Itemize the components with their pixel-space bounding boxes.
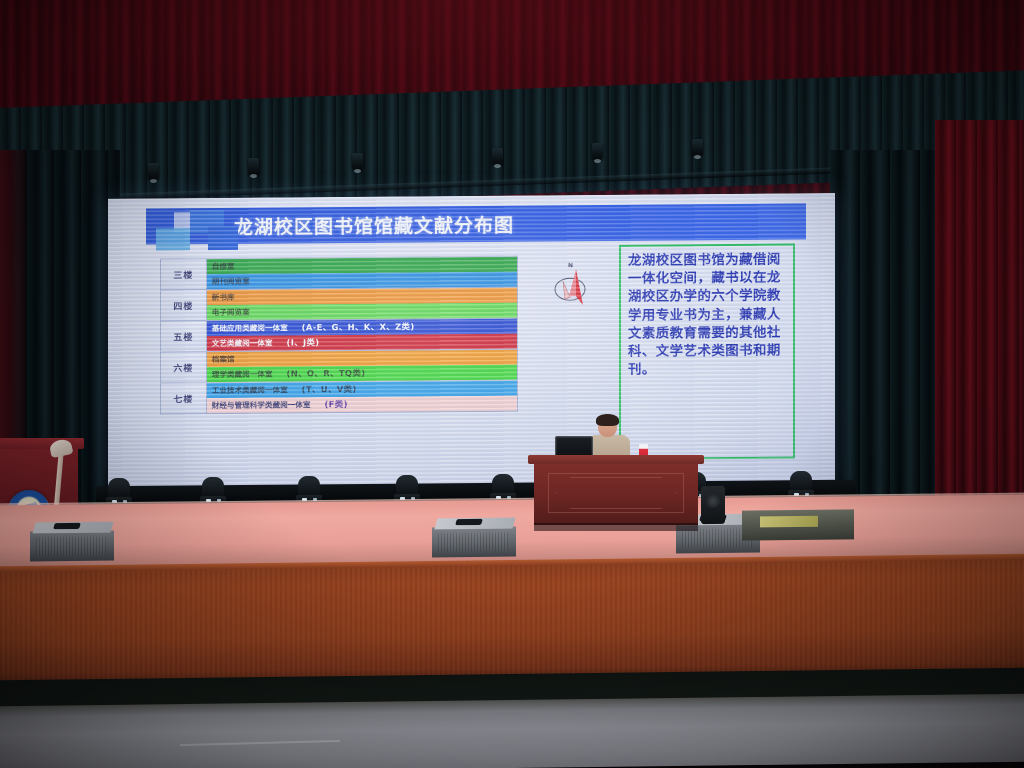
room-class-codes: (F类)	[324, 400, 347, 409]
ceiling-light-icon	[352, 153, 363, 170]
floor-monitor	[432, 518, 516, 559]
compass-rose-icon: N	[552, 263, 592, 319]
room-name: 期刊阅览室	[212, 277, 250, 285]
room-band: 电子阅览室	[207, 303, 517, 320]
stage-speaker	[701, 486, 725, 524]
room-class-codes: (A-E、G、H、K、X、Z类)	[302, 323, 415, 332]
floor-label: 七楼	[161, 383, 207, 414]
speaker-cone-icon	[706, 494, 720, 508]
lectern-top	[528, 455, 704, 464]
decoration-square	[208, 226, 238, 250]
compass-north-label: N	[568, 262, 573, 269]
room-band: 期刊阅览室	[207, 272, 517, 289]
floor-label: 四楼	[161, 290, 207, 321]
table-row: 六楼档案馆理学类藏阅一体室(N、O、R、TQ类)	[161, 349, 518, 383]
room-name: 理学类藏阅一体室	[212, 370, 273, 378]
ceiling-light-icon	[148, 163, 159, 180]
lectern-diamond-trim	[556, 477, 676, 509]
room-band: 财经与管理科学类藏阅一体室(F类)	[207, 396, 517, 413]
room-name: 文艺类藏阅一体室	[212, 339, 273, 347]
floor-label: 三楼	[161, 259, 207, 290]
room-name: 自修室	[212, 263, 235, 271]
floor-rooms-cell: 基础应用类藏阅一体室(A-E、G、H、K、X、Z类)文艺类藏阅一体室(I、J类)	[206, 318, 517, 351]
note-box-text: 龙湖校区图书馆为藏借阅一体化空间，藏书以在龙湖校区办学的六个学院教学用专业书为主…	[628, 252, 786, 381]
floor-rooms-cell: 自修室期刊阅览室	[206, 256, 517, 289]
ceiling-light-icon	[692, 139, 703, 156]
room-name: 基础应用类藏阅一体室	[212, 324, 288, 332]
room-class-codes: (T、U、V类)	[302, 385, 357, 394]
slide-title: 龙湖校区图书馆馆藏文献分布图	[234, 210, 514, 239]
room-name: 财经与管理科学类藏阅一体室	[212, 401, 311, 409]
slide-title-bar: 龙湖校区图书馆馆藏文献分布图	[146, 203, 806, 244]
floor-distribution-table: 三楼自修室期刊阅览室四楼新书库电子阅览室五楼基础应用类藏阅一体室(A-E、G、H…	[160, 256, 518, 415]
control-console	[742, 509, 854, 540]
lectern-shadow	[534, 523, 698, 531]
auditorium-floor	[0, 694, 1024, 768]
projection-screen: 龙湖校区图书馆馆藏文献分布图 三楼自修室期刊阅览室四楼新书库电子阅览室五楼基础应…	[108, 193, 835, 489]
ceiling-light-icon	[492, 148, 503, 165]
console-lamp	[760, 516, 818, 528]
room-class-codes: (I、J类)	[286, 338, 319, 347]
note-box: 龙湖校区图书馆为藏借阅一体化空间，藏书以在龙湖校区办学的六个学院教学用专业书为主…	[619, 243, 795, 459]
room-band: 文艺类藏阅一体室(I、J类)	[207, 334, 517, 351]
floor-rooms-cell: 档案馆理学类藏阅一体室(N、O、R、TQ类)	[206, 349, 517, 382]
decoration-square	[156, 228, 190, 250]
auditorium-stage-photo: 龙湖校区图书馆馆藏文献分布图 三楼自修室期刊阅览室四楼新书库电子阅览室五楼基础应…	[0, 0, 1024, 768]
table-row: 五楼基础应用类藏阅一体室(A-E、G、H、K、X、Z类)文艺类藏阅一体室(I、J…	[161, 318, 518, 352]
presentation-slide: 龙湖校区图书馆馆藏文献分布图 三楼自修室期刊阅览室四楼新书库电子阅览室五楼基础应…	[108, 193, 835, 489]
floor-rooms-cell: 工业技术类藏阅一体室(T、U、V类)财经与管理科学类藏阅一体室(F类)	[206, 380, 517, 413]
table-row: 七楼工业技术类藏阅一体室(T、U、V类)财经与管理科学类藏阅一体室(F类)	[161, 380, 518, 414]
screen-surface: 龙湖校区图书馆馆藏文献分布图 三楼自修室期刊阅览室四楼新书库电子阅览室五楼基础应…	[108, 193, 835, 489]
room-name: 电子阅览室	[212, 308, 250, 316]
ceiling-light-icon	[248, 158, 259, 175]
floor-monitor	[30, 522, 114, 563]
presenter-hair	[596, 414, 619, 426]
room-name: 新书库	[212, 294, 235, 302]
floor-rooms-cell: 新书库电子阅览室	[206, 287, 517, 320]
floor-label: 六楼	[161, 352, 207, 383]
floor-label: 五楼	[161, 321, 207, 352]
table-row: 四楼新书库电子阅览室	[161, 287, 518, 321]
room-band: 理学类藏阅一体室(N、O、R、TQ类)	[207, 365, 517, 382]
room-class-codes: (N、O、R、TQ类)	[286, 369, 365, 378]
ceiling-light-icon	[592, 143, 603, 160]
room-name: 工业技术类藏阅一体室	[212, 386, 288, 394]
room-name: 档案馆	[212, 356, 235, 364]
lectern-body	[534, 463, 698, 525]
table-row: 三楼自修室期刊阅览室	[161, 256, 518, 290]
lectern	[534, 455, 698, 533]
